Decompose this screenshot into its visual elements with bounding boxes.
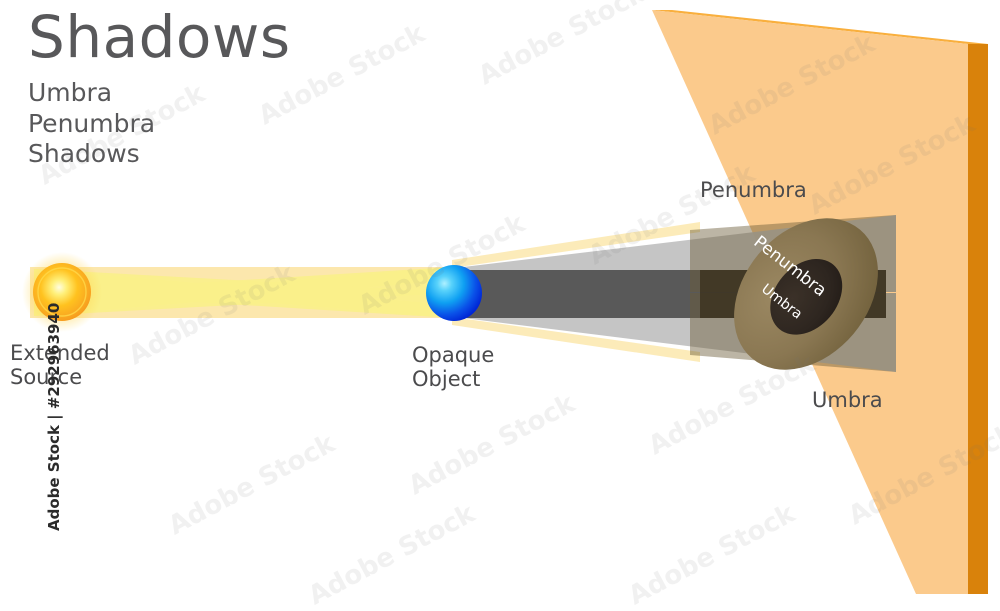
subtitle-line-penumbra: Penumbra: [28, 109, 291, 140]
subtitle-line-shadows: Shadows: [28, 139, 291, 170]
label-opaque-object-line1: Opaque: [412, 343, 494, 367]
stock-credit-watermark: Adobe Stock | #292963940: [45, 231, 63, 531]
subtitle-list: Umbra Penumbra Shadows: [28, 78, 291, 170]
subtitle-line-umbra: Umbra: [28, 78, 291, 109]
label-penumbra-screen: Penumbra: [700, 178, 807, 202]
screen-side-edge: [968, 44, 988, 594]
title-block: Shadows Umbra Penumbra Shadows: [28, 8, 291, 170]
diagram-canvas: Shadows Umbra Penumbra Shadows Extended …: [0, 0, 1000, 600]
page-title: Shadows: [28, 8, 291, 66]
label-umbra-screen: Umbra: [812, 388, 883, 412]
label-opaque-object: Opaque Object: [412, 343, 494, 391]
opaque-object-sphere: [426, 265, 482, 321]
label-opaque-object-line2: Object: [412, 367, 494, 391]
